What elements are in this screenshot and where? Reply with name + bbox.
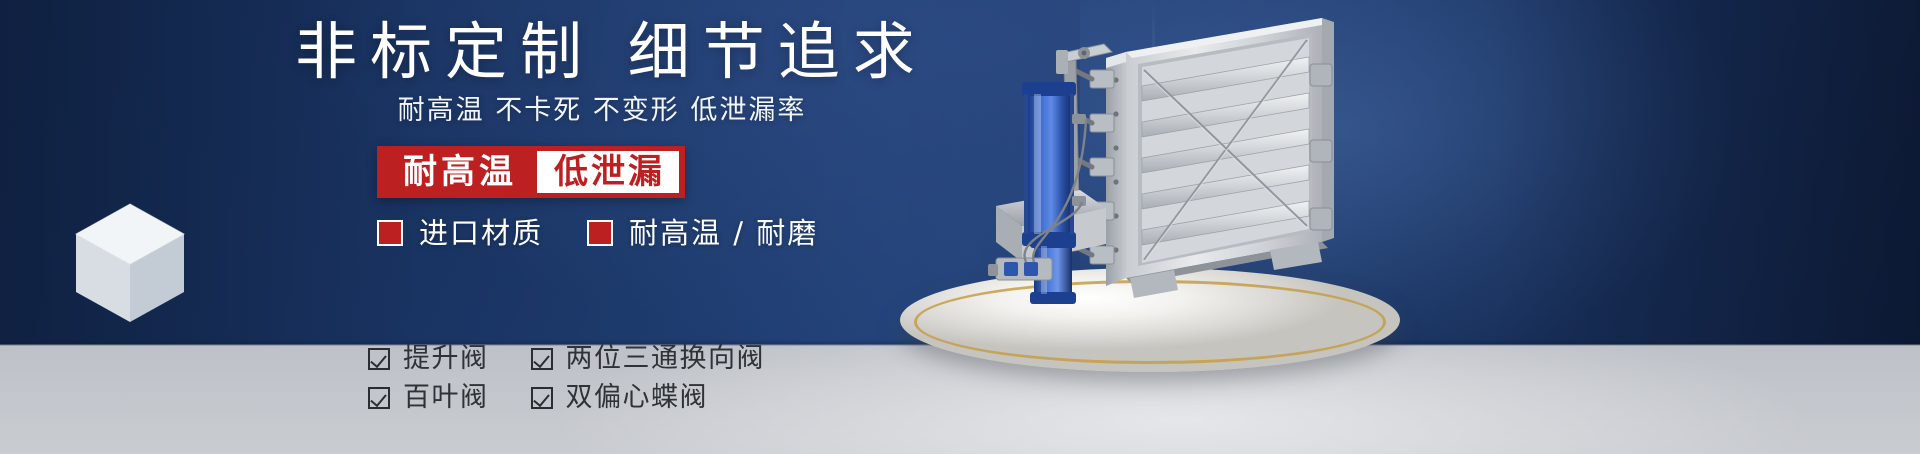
list-item: 百叶阀 xyxy=(368,383,489,413)
page-subtitle: 耐高温 不卡死 不变形 低泄漏率 xyxy=(282,94,922,128)
checklist-label: 提升阀 xyxy=(403,344,489,374)
badge-left-label: 耐高温 xyxy=(377,146,537,198)
checklist-label: 百叶阀 xyxy=(403,383,489,413)
badge-right-label: 低泄漏 xyxy=(537,151,679,193)
badge-chip-wrapper: 低泄漏 xyxy=(537,146,685,198)
feature-label: 耐高温 / 耐磨 xyxy=(629,217,818,249)
list-item: 两位三通换向阀 xyxy=(531,344,766,374)
checkmark-icon xyxy=(368,348,390,370)
checkmark-icon xyxy=(368,387,390,409)
cube-icon xyxy=(70,196,190,328)
product-checklist: 提升阀 两位三通换向阀 百叶阀 双偏心蝶阀 xyxy=(368,344,765,413)
list-item: 双偏心蝶阀 xyxy=(531,383,766,413)
list-item: 提升阀 xyxy=(368,344,489,374)
checklist-label: 双偏心蝶阀 xyxy=(566,383,709,413)
feature-label: 进口材质 xyxy=(419,217,543,249)
highlight-badge: 耐高温 低泄漏 xyxy=(377,146,685,198)
feature-item: 进口材质 xyxy=(377,217,543,249)
checkmark-icon xyxy=(531,348,553,370)
page-title: 非标定制 细节追求 xyxy=(282,16,922,88)
checklist-label: 两位三通换向阀 xyxy=(566,344,766,374)
feature-item: 耐高温 / 耐磨 xyxy=(587,217,818,249)
promo-banner: 非标定制 细节追求 耐高温 不卡死 不变形 低泄漏率 耐高温 低泄漏 进口材质 … xyxy=(0,0,1920,454)
red-square-icon xyxy=(587,220,613,246)
product-image-damper-valve xyxy=(930,10,1400,340)
feature-list: 进口材质 耐高温 / 耐磨 xyxy=(377,217,818,249)
red-square-icon xyxy=(377,220,403,246)
checkmark-icon xyxy=(531,387,553,409)
